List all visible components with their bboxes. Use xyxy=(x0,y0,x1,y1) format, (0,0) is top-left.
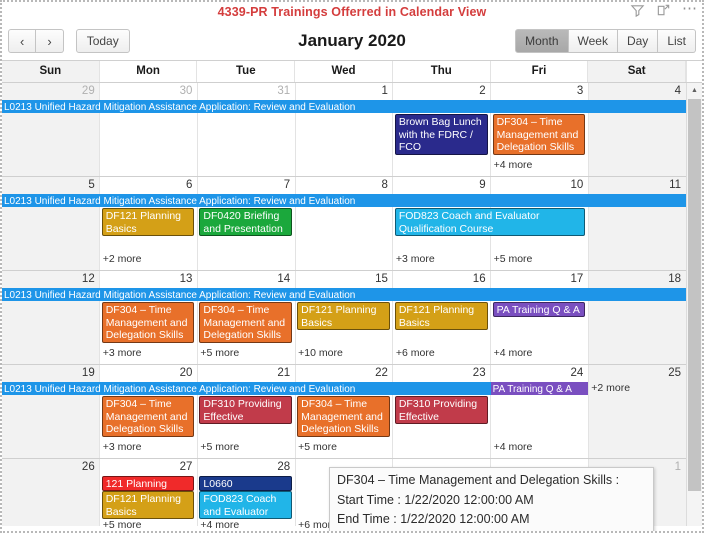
view-list-button[interactable]: List xyxy=(658,29,696,53)
scrollbar-thumb[interactable] xyxy=(688,99,701,491)
weekday-header-row: Sun Mon Tue Wed Thu Fri Sat xyxy=(2,61,702,83)
calendar-event[interactable]: DF304 – Time Management and Delegation S… xyxy=(493,114,586,155)
more-events-link[interactable]: +4 more xyxy=(200,519,239,531)
calendar-event[interactable]: DF310 Providing Effective Feedback xyxy=(395,396,488,424)
all-day-event[interactable]: PA Training Q & A xyxy=(491,382,589,395)
calendar-event[interactable]: DF121 Planning Basics xyxy=(102,491,195,519)
calendar-event[interactable]: PA Training Q & A xyxy=(493,302,586,317)
calendar-event[interactable]: DF0420 Briefing and Presentation Skills xyxy=(199,208,292,236)
more-events-link[interactable]: +5 more xyxy=(200,347,239,359)
nav-button-group: ‹ › xyxy=(8,29,64,53)
more-events-link[interactable]: +3 more xyxy=(103,347,142,359)
calendar-event[interactable]: DF121 Planning Basics xyxy=(297,302,390,330)
week-row: 567891011L0213 Unified Hazard Mitigation… xyxy=(2,177,686,271)
view-day-button[interactable]: Day xyxy=(618,29,658,53)
calendar-event[interactable]: DF304 – Time Management and Delegation S… xyxy=(199,302,292,343)
more-options-icon[interactable]: ⋯ xyxy=(682,4,698,18)
calendar-event[interactable]: Brown Bag Lunch with the FDRC / FCO xyxy=(395,114,488,155)
weekday-header-sun: Sun xyxy=(2,61,100,82)
filter-icon[interactable] xyxy=(630,3,645,18)
weekday-header-thu: Thu xyxy=(393,61,491,82)
event-layer: L0213 Unified Hazard Mitigation Assistan… xyxy=(2,100,686,176)
more-events-link[interactable]: +6 more xyxy=(396,347,435,359)
calendar-body: 2930311234L0213 Unified Hazard Mitigatio… xyxy=(2,83,702,533)
more-events-link[interactable]: +10 more xyxy=(298,347,343,359)
weekday-header-sat: Sat xyxy=(588,61,686,82)
more-events-link[interactable]: +5 more xyxy=(298,441,337,453)
calendar-event[interactable]: FOD823 Coach and Evaluator Qualification… xyxy=(199,491,292,519)
all-day-event[interactable]: L0213 Unified Hazard Mitigation Assistan… xyxy=(2,194,686,207)
page-title: 4339-PR Trainings Offerred in Calendar V… xyxy=(218,5,487,19)
event-layer: L0213 Unified Hazard Mitigation Assistan… xyxy=(2,382,686,458)
week-row: 19202122232425L0213 Unified Hazard Mitig… xyxy=(2,365,686,459)
calendar-event[interactable]: DF310 Providing Effective Feedback xyxy=(199,396,292,424)
scroll-up-arrow[interactable]: ▲ xyxy=(687,83,702,97)
calendar-event[interactable]: L0660 Introduction to Federal Sta xyxy=(199,476,292,491)
more-events-link[interactable]: +5 more xyxy=(103,519,142,531)
vertical-scrollbar[interactable]: ▲ ▼ xyxy=(686,83,702,533)
event-layer: L0213 Unified Hazard Mitigation Assistan… xyxy=(2,288,686,364)
scrollbar-header-gutter xyxy=(686,61,702,82)
report-viewer: 4339-PR Trainings Offerred in Calendar V… xyxy=(0,0,704,533)
weekday-header-wed: Wed xyxy=(295,61,393,82)
event-tooltip: DF304 – Time Management and Delegation S… xyxy=(329,467,654,533)
more-events-link[interactable]: +4 more xyxy=(494,347,533,359)
view-toggle-group: Month Week Day List xyxy=(515,29,696,53)
more-events-link[interactable]: +4 more xyxy=(494,441,533,453)
calendar-event[interactable]: DF304 – Time Management and Delegation S… xyxy=(102,396,195,437)
tooltip-line-start-time: Start Time : 1/22/2020 12:00:00 AM xyxy=(337,491,646,511)
weekday-header-mon: Mon xyxy=(100,61,198,82)
view-week-button[interactable]: Week xyxy=(569,29,618,53)
week-row: 2930311234L0213 Unified Hazard Mitigatio… xyxy=(2,83,686,177)
more-events-link[interactable]: +5 more xyxy=(494,253,533,265)
popout-icon[interactable] xyxy=(656,3,671,18)
today-button[interactable]: Today xyxy=(76,29,130,53)
calendar-event[interactable]: DF121 Planning Basics xyxy=(395,302,488,330)
next-month-button[interactable]: › xyxy=(36,29,63,53)
tooltip-line-title: DF304 – Time Management and Delegation S… xyxy=(337,471,646,491)
view-month-button[interactable]: Month xyxy=(515,29,568,53)
all-day-event[interactable]: L0213 Unified Hazard Mitigation Assistan… xyxy=(2,382,491,395)
prev-month-button[interactable]: ‹ xyxy=(8,29,36,53)
report-title-bar: 4339-PR Trainings Offerred in Calendar V… xyxy=(2,2,702,22)
event-layer: L0213 Unified Hazard Mitigation Assistan… xyxy=(2,194,686,270)
week-rows: 2930311234L0213 Unified Hazard Mitigatio… xyxy=(2,83,686,533)
calendar-event[interactable]: 121 Planning Basics xyxy=(102,476,195,491)
all-day-event[interactable]: L0213 Unified Hazard Mitigation Assistan… xyxy=(2,100,686,113)
more-events-link[interactable]: +3 more xyxy=(103,441,142,453)
calendar-event[interactable]: FOD823 Coach and Evaluator Qualification… xyxy=(395,208,585,236)
more-events-link[interactable]: +3 more xyxy=(396,253,435,265)
more-events-link[interactable]: +5 more xyxy=(200,441,239,453)
more-events-link[interactable]: +2 more xyxy=(591,382,630,394)
calendar-grid: Sun Mon Tue Wed Thu Fri Sat 2930311234L0… xyxy=(2,60,702,533)
more-events-link[interactable]: +2 more xyxy=(103,253,142,265)
calendar-event[interactable]: DF304 – Time Management and Delegation S… xyxy=(297,396,390,437)
calendar-event[interactable]: DF121 Planning Basics xyxy=(102,208,195,236)
calendar-toolbar: ‹ › Today January 2020 Month Week Day Li… xyxy=(2,22,702,60)
tooltip-line-end-time: End Time : 1/22/2020 12:00:00 AM xyxy=(337,510,646,530)
weekday-header-fri: Fri xyxy=(491,61,589,82)
tooltip-line-title-field: Title : DF304 – Time Management and Dele… xyxy=(337,530,646,533)
all-day-event[interactable]: L0213 Unified Hazard Mitigation Assistan… xyxy=(2,288,686,301)
more-events-link[interactable]: +4 more xyxy=(494,159,533,171)
title-actions: ⋯ xyxy=(630,3,698,18)
week-row: 12131415161718L0213 Unified Hazard Mitig… xyxy=(2,271,686,365)
weekday-header-tue: Tue xyxy=(197,61,295,82)
calendar-event[interactable]: DF304 – Time Management and Delegation S… xyxy=(102,302,195,343)
